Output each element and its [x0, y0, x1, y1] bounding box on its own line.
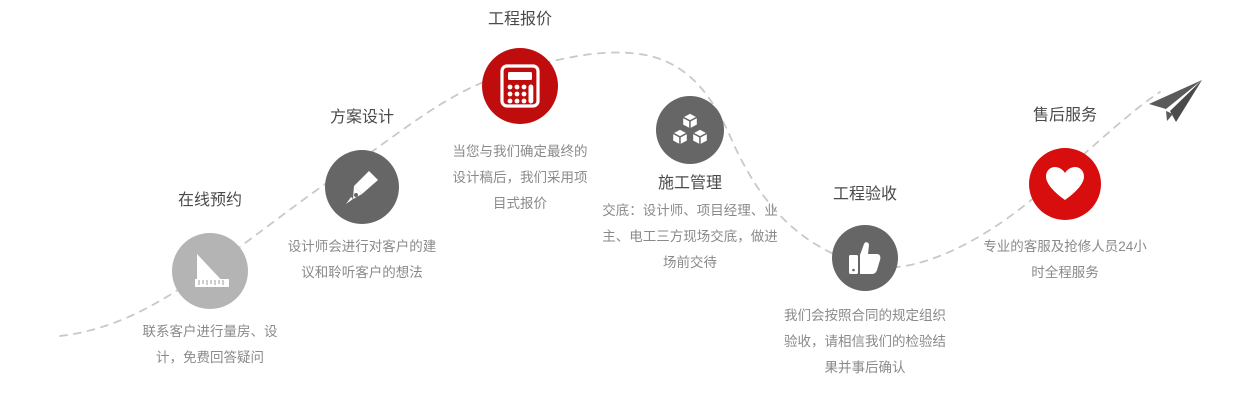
step-4-description: 交底：设计师、项目经理、业主、电工三方现场交底，做进场前交待	[602, 198, 778, 276]
process-step-5: 工程验收 我们会按照合同的规定组织验收，请相信我们的检验结果并事后确认	[765, 185, 965, 381]
stacked-boxes-icon	[656, 96, 724, 164]
step-4-title: 施工管理	[658, 174, 722, 194]
fountain-pen-icon	[325, 150, 399, 224]
process-step-4: 施工管理 交底：设计师、项目经理、业主、电工三方现场交底，做进场前交待	[590, 96, 790, 276]
step-3-title: 工程报价	[488, 10, 552, 30]
heart-icon	[1029, 148, 1101, 220]
triangle-ruler-icon	[172, 233, 248, 309]
step-1-title: 在线预约	[178, 191, 242, 211]
thumbs-up-icon	[832, 225, 898, 291]
step-2-description: 设计师会进行对客户的建议和聆听客户的想法	[282, 234, 442, 286]
step-6-description: 专业的客服及抢修人员24小时全程服务	[980, 234, 1150, 286]
process-flow-diagram: 在线预约 联系客户进行量房、设计，免费回答疑问 方案设计	[0, 0, 1245, 402]
step-6-title: 售后服务	[1033, 106, 1097, 126]
step-1-description: 联系客户进行量房、设计，免费回答疑问	[130, 319, 290, 371]
calculator-icon	[482, 48, 558, 124]
step-5-description: 我们会按照合同的规定组织验收，请相信我们的检验结果并事后确认	[781, 303, 949, 381]
step-3-description: 当您与我们确定最终的设计稿后，我们采用项目式报价	[450, 139, 590, 217]
process-step-6: 售后服务 专业的客服及抢修人员24小时全程服务	[965, 106, 1165, 286]
step-5-title: 工程验收	[833, 185, 897, 205]
step-2-title: 方案设计	[330, 108, 394, 128]
